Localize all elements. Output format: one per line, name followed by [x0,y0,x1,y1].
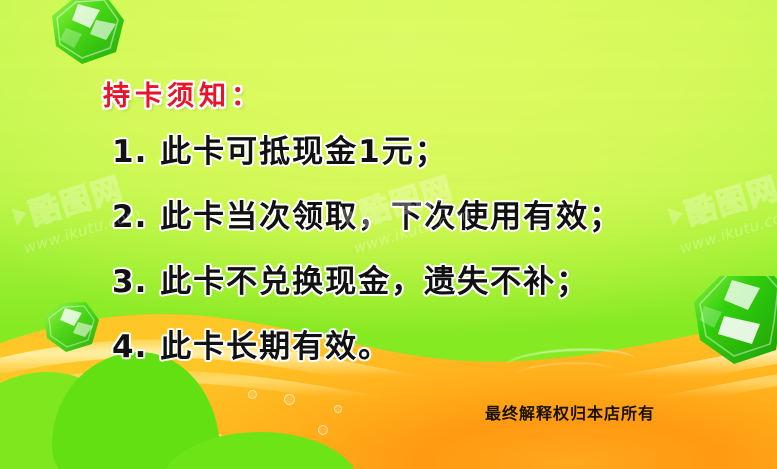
list-item-text: 此卡不兑换现金，遗失不补； [160,264,589,300]
list-item-number: 4. [112,329,147,365]
terms-list: 1. 此卡可抵现金1元； 2. 此卡当次领取，下次使用有效； 3. 此卡不兑换现… [0,126,777,386]
card-terms-poster: 持卡须知： 1. 此卡可抵现金1元； 2. 此卡当次领取，下次使用有效； 3. … [0,0,777,469]
list-item-text: 此卡当次领取，下次使用有效； [160,199,622,235]
list-item: 4. 此卡长期有效。 [0,321,777,386]
list-item-number: 3. [112,264,147,300]
list-item-text: 此卡长期有效。 [160,329,391,365]
disclaimer-text: 最终解释权归本店所有 [485,400,655,424]
content-layer: 持卡须知： 1. 此卡可抵现金1元； 2. 此卡当次领取，下次使用有效； 3. … [0,0,777,469]
list-item: 2. 此卡当次领取，下次使用有效； [0,191,777,256]
list-item: 1. 此卡可抵现金1元； [0,126,777,191]
list-item-text: 此卡可抵现金1元； [160,134,448,170]
list-item-number: 2. [112,199,147,235]
list-item: 3. 此卡不兑换现金，遗失不补； [0,256,777,321]
page-title: 持卡须知： [103,74,263,113]
list-item-number: 1. [112,134,147,170]
